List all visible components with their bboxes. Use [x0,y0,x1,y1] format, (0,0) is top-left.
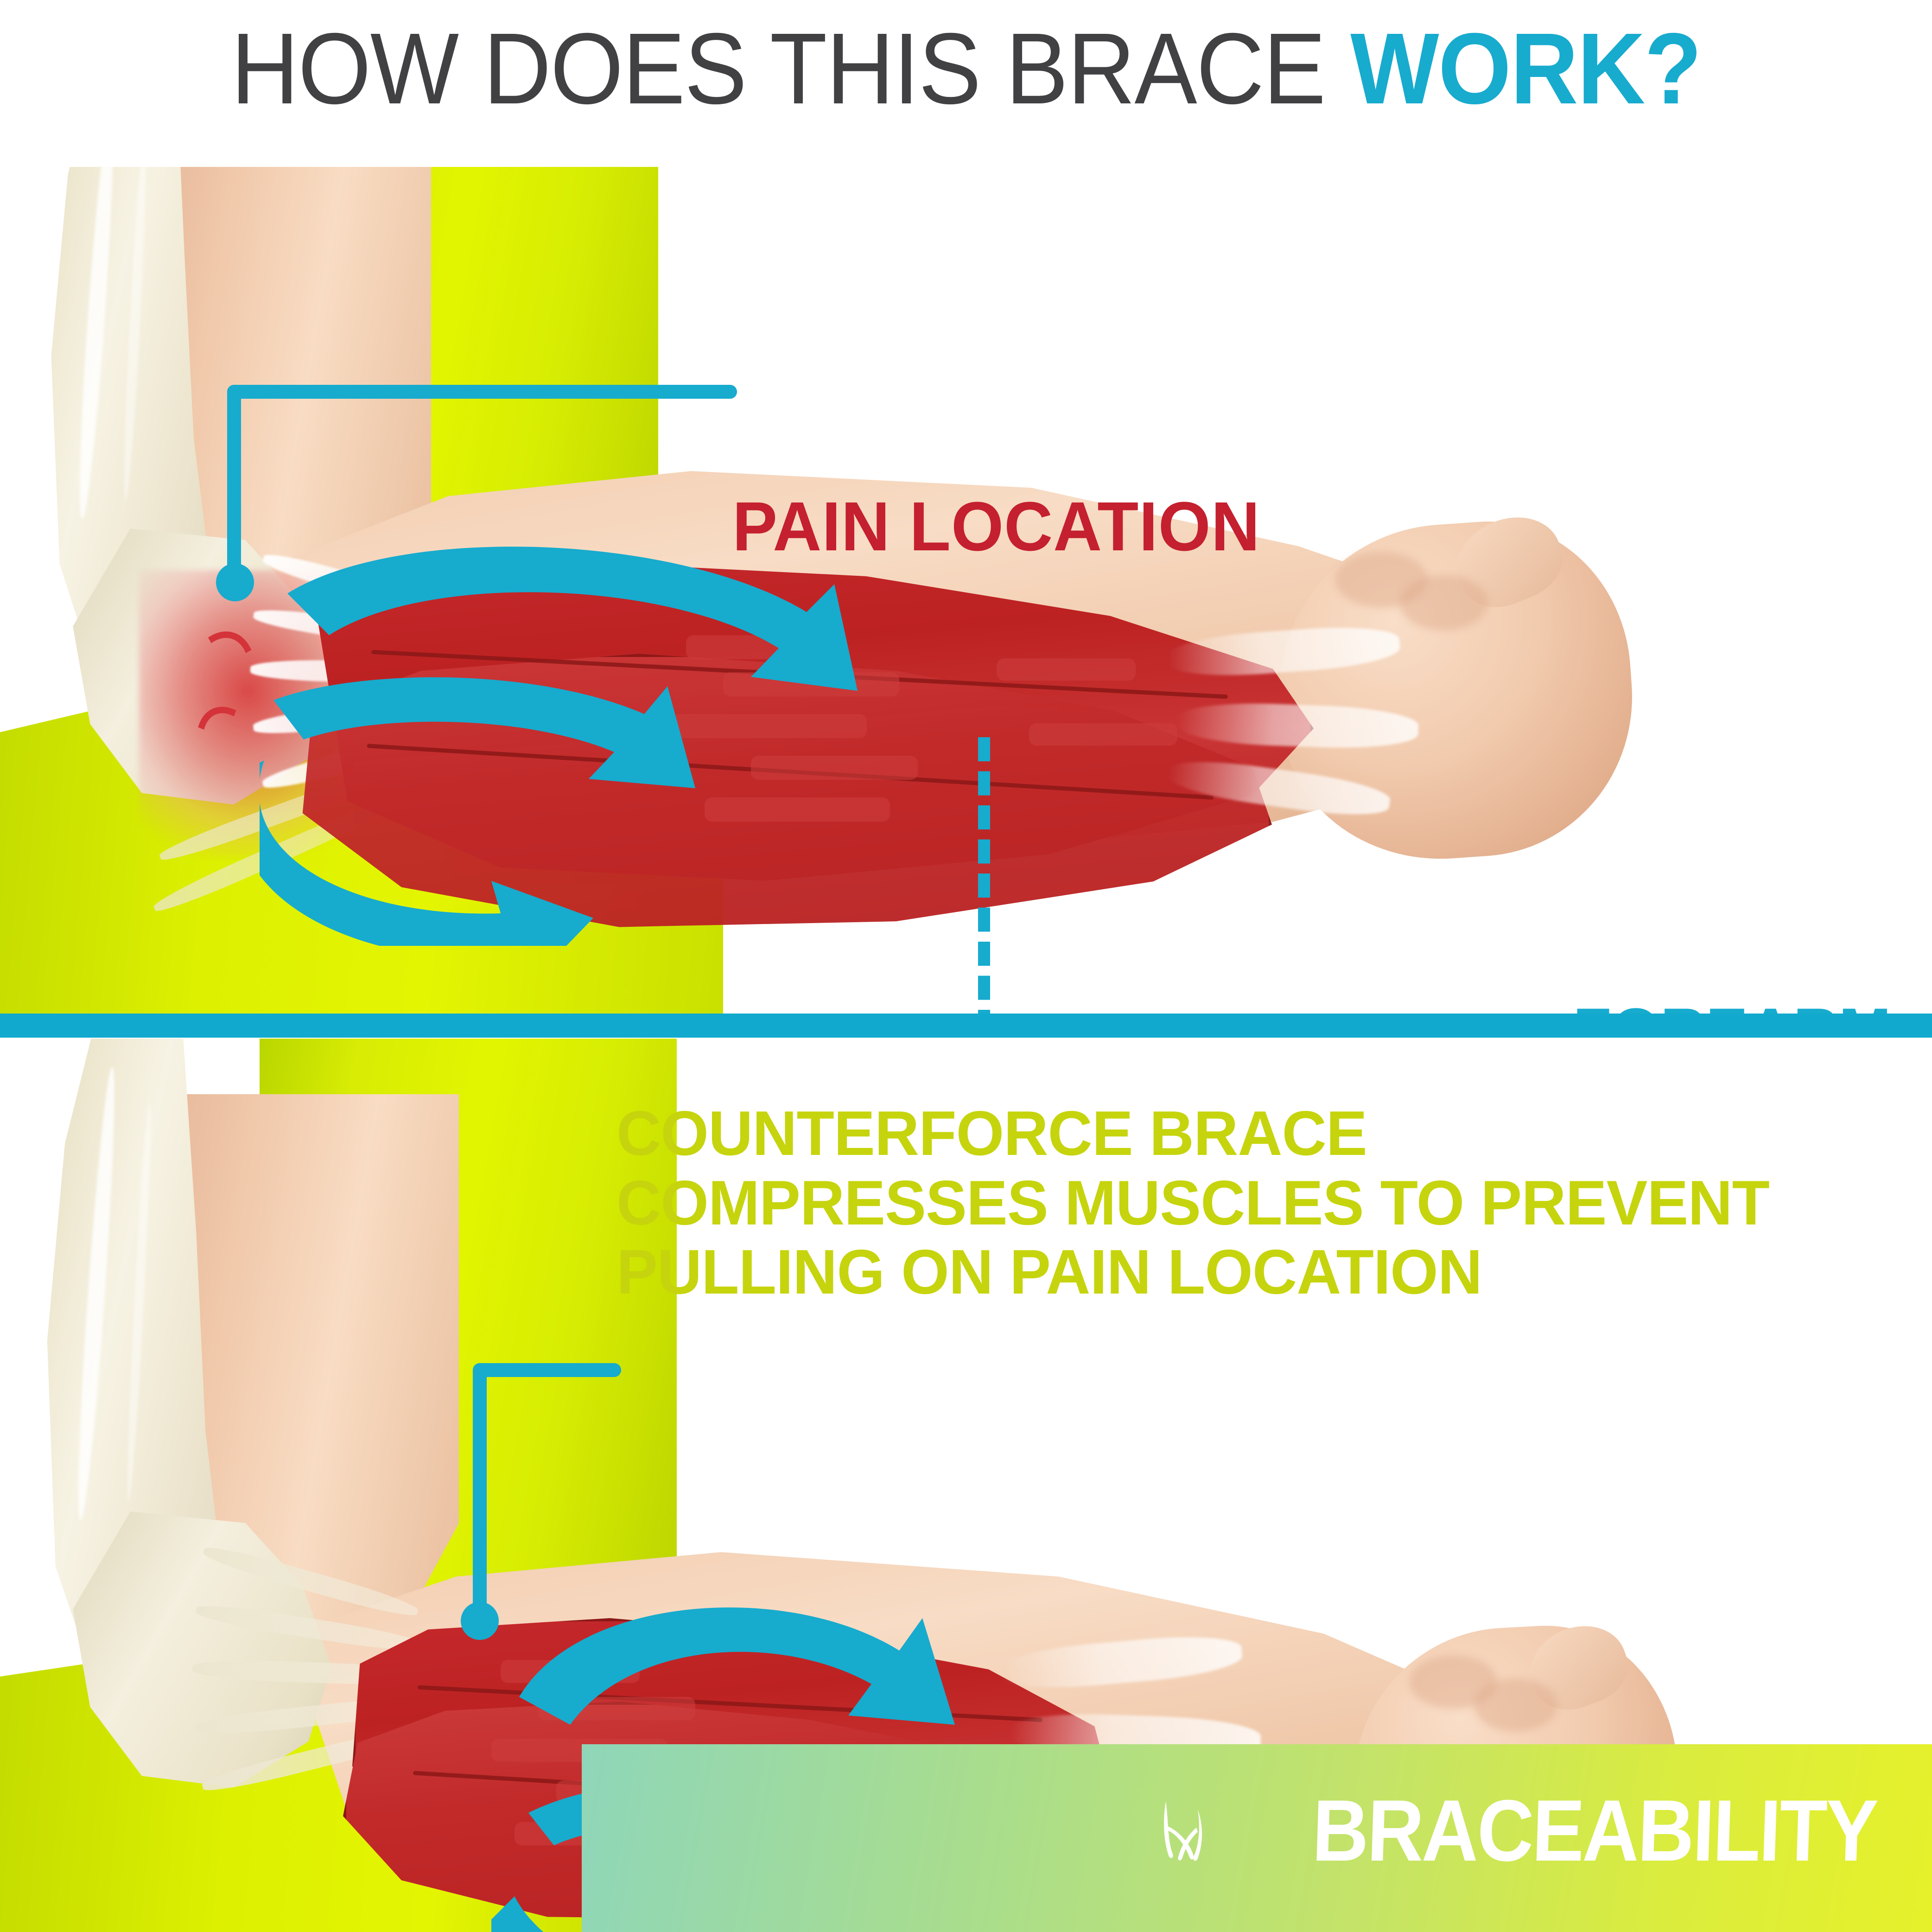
forearm-muscles-label: FOREARM MUSCLES [1226,997,1891,1015]
muscle-pull-arrow-upper [287,547,858,691]
counterforce-label-line2: COMPRESSES MUSCLES TO PREVENT [616,1168,1870,1238]
compressed-force-arrow-upper [519,1607,955,1725]
page-title: HOW DOES THIS BRACE WORK? [68,19,1864,120]
braceability-wing-mark-icon [1159,1796,1228,1865]
counterforce-label-line3: PULLING ON PAIN LOCATION [616,1237,1870,1307]
brand-part-ability: ABILITY [1582,1782,1878,1879]
brace-leader-horizontal [473,1363,621,1377]
brace-leader-dot [461,1602,499,1640]
knuckle [1474,1678,1557,1732]
counterforce-label-line1: COUNTERFORCE BRACE [616,1099,1870,1168]
untreated-elbow-panel: PAIN LOCATION FOREARM MUSCLES [0,167,1932,1015]
counterforce-brace-label: COUNTERFORCE BRACE COMPRESSES MUSCLES TO… [616,1099,1870,1307]
pain-leader-horizontal [227,385,737,399]
panel-divider [0,1014,1932,1038]
forearm-muscles-label-line1: FOREARM [1226,997,1891,1015]
pain-leader-vertical [227,385,241,584]
brace-leader-vertical [473,1363,487,1623]
muscle-pull-arrow-group [260,529,1140,946]
brand-part-brace: BRACE [1311,1782,1584,1879]
braceability-logo[interactable]: BRACEABILITY [1159,1787,1876,1874]
muscle-pull-arrow-middle [273,677,695,788]
braceability-wordmark: BRACEABILITY [1311,1787,1878,1874]
infographic-canvas: HOW DOES THIS BRACE WORK? [0,0,1932,1932]
page-title-highlight: WORK? [1350,13,1701,125]
page-title-plain: HOW DOES THIS BRACE [231,13,1350,125]
muscle-pull-arrow-lower [260,760,593,946]
pain-leader-dot [216,563,254,601]
brand-footer: BRACEABILITY [582,1744,1932,1932]
pain-location-label: PAIN LOCATION [732,491,1260,561]
forearm-leader-dashed-vertical [978,737,990,1015]
knuckle [1400,575,1488,631]
